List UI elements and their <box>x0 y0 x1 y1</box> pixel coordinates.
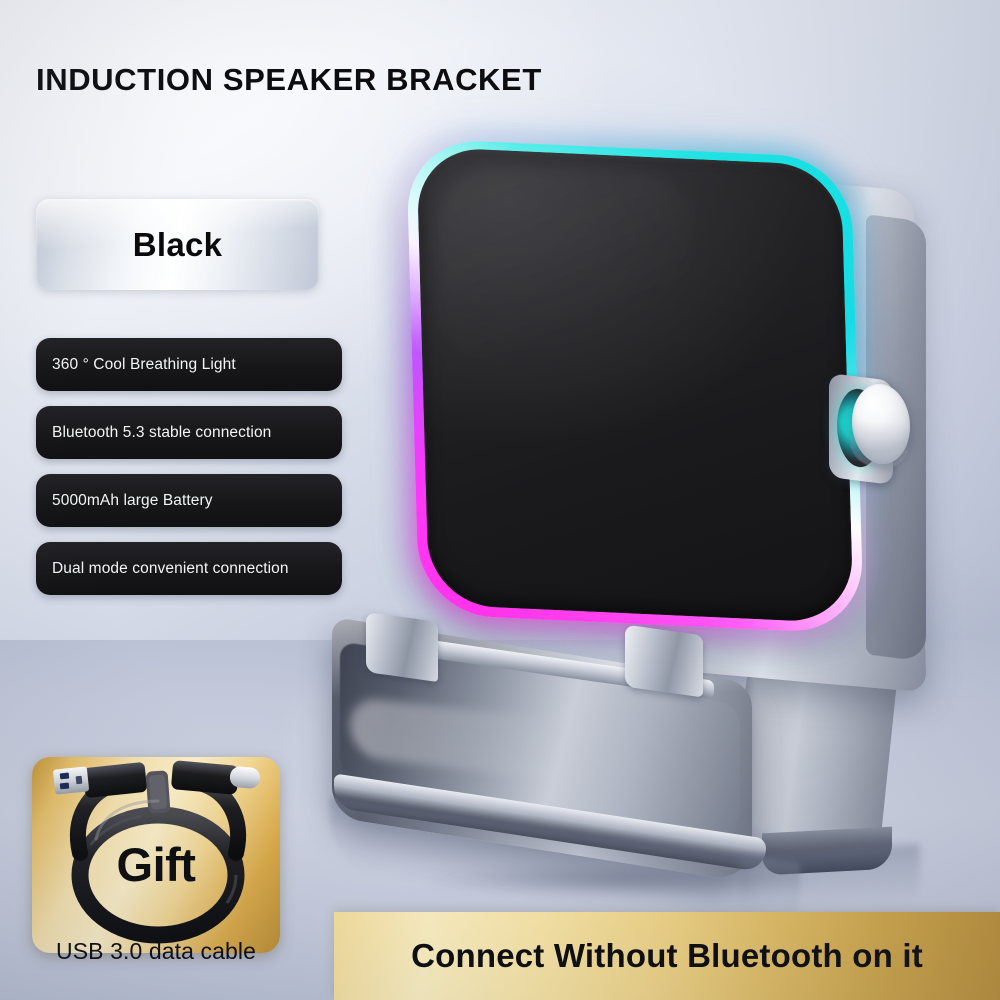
feature-pill-battery: 5000mAh large Battery <box>36 474 342 527</box>
feature-label: 5000mAh large Battery <box>52 492 213 510</box>
gift-caption-label: USB 3.0 data cable <box>24 938 288 965</box>
feature-pill-breathing-light: 360 ° Cool Breathing Light <box>36 338 342 391</box>
feature-pill-dual-mode: Dual mode convenient connection <box>36 542 342 595</box>
product-marketing-image: INDUCTION SPEAKER BRACKET Black 360 ° Co… <box>0 0 1000 1000</box>
phone-holder-hook-right <box>625 625 703 698</box>
feature-pill-bluetooth: Bluetooth 5.3 stable connection <box>36 406 342 459</box>
page-title: INDUCTION SPEAKER BRACKET <box>36 62 542 98</box>
product-image <box>310 130 1000 890</box>
feature-label: Bluetooth 5.3 stable connection <box>52 424 271 442</box>
color-variant-badge[interactable]: Black <box>36 199 319 290</box>
gift-word-label: Gift <box>32 837 280 892</box>
feature-label: Dual mode convenient connection <box>52 560 289 578</box>
feature-label: 360 ° Cool Breathing Light <box>52 356 236 374</box>
bottom-banner: Connect Without Bluetooth on it <box>334 912 1000 1000</box>
banner-text: Connect Without Bluetooth on it <box>411 937 923 975</box>
leg-floor-reflection <box>740 844 920 917</box>
phone-holder-hook-left <box>366 612 438 682</box>
color-variant-label: Black <box>133 226 223 264</box>
feature-list: 360 ° Cool Breathing Light Bluetooth 5.3… <box>36 338 342 595</box>
